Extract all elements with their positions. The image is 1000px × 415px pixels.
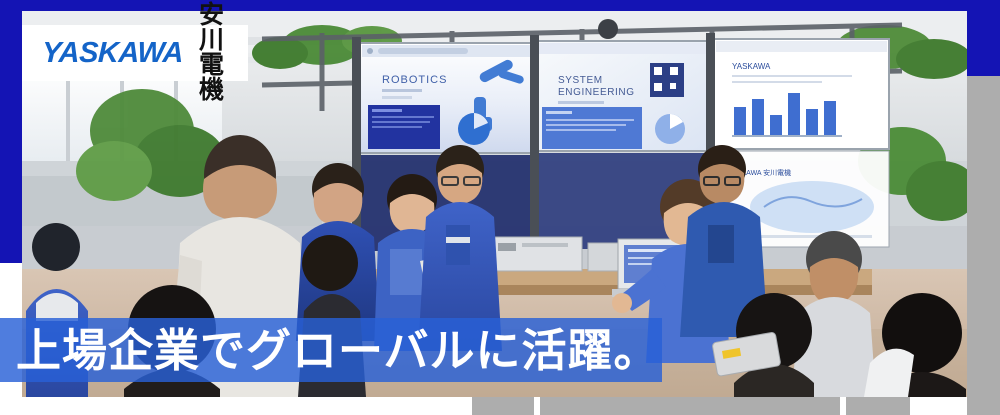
svg-text:ENGINEERING: ENGINEERING — [558, 87, 635, 98]
svg-text:YASKAWA: YASKAWA — [732, 62, 771, 71]
frame-right-bar — [967, 0, 1000, 76]
yaskawa-japanese-name: 安川電機 — [199, 3, 248, 103]
frame-top-bar — [0, 0, 1000, 11]
svg-text:SYSTEM: SYSTEM — [558, 75, 603, 86]
yaskawa-wordmark: YASKAWA — [41, 39, 183, 68]
placeholder-block — [967, 397, 1000, 415]
headline-text: 上場企業でグローバルに活躍。 — [0, 328, 660, 373]
bottom-placeholder-strip — [0, 397, 1000, 415]
placeholder-block — [540, 397, 840, 415]
placeholder-block — [472, 397, 534, 415]
headline-banner: 上場企業でグローバルに活躍。 — [0, 318, 662, 382]
svg-text:ROBOTICS: ROBOTICS — [382, 74, 447, 86]
frame-left-bar — [0, 0, 22, 263]
company-logo[interactable]: YASKAWA 安川電機 — [22, 25, 248, 81]
hero-banner-page: ROBOTICS SYS — [0, 0, 1000, 415]
frame-right-gray-bar — [967, 76, 1000, 397]
placeholder-block — [846, 397, 910, 415]
